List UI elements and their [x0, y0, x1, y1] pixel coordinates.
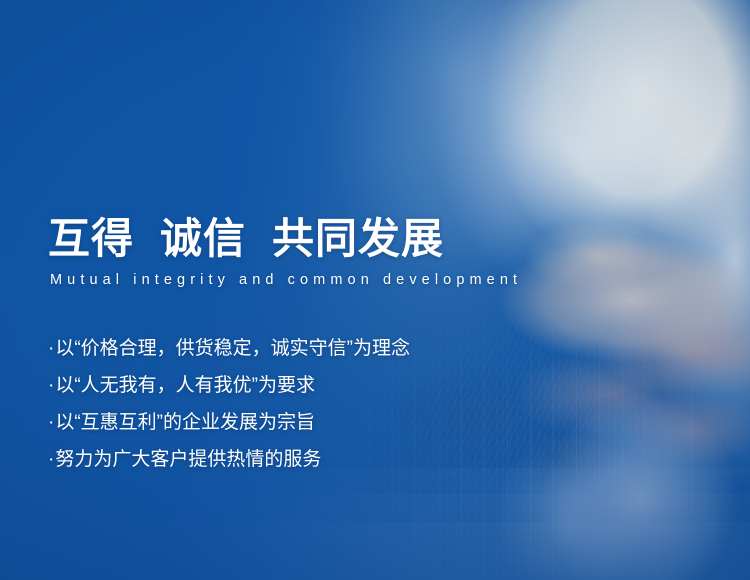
company-philosophy-banner: 互得诚信共同发展 Mutual integrity and common dev… [0, 0, 750, 580]
headline-part-1: 互得 [48, 215, 134, 262]
bullet-marker-icon: · [48, 412, 54, 433]
banner-subheadline: Mutual integrity and common development [50, 272, 522, 288]
bullet-marker-icon: · [48, 375, 54, 396]
banner-content: 互得诚信共同发展 Mutual integrity and common dev… [48, 0, 608, 580]
list-item-text: 努力为广大客户提供热情的服务 [55, 449, 321, 470]
list-item: ·以“价格合理，供货稳定，诚实守信”为理念 [48, 330, 410, 367]
list-item-text: 以“互惠互利”的企业发展为宗旨 [55, 412, 315, 433]
headline-part-2: 诚信 [160, 215, 246, 262]
philosophy-list: ·以“价格合理，供货稳定，诚实守信”为理念 ·以“人无我有，人有我优”为要求 ·… [48, 330, 410, 478]
bullet-marker-icon: · [48, 449, 54, 470]
list-item-text: 以“人无我有，人有我优”为要求 [55, 375, 315, 396]
bullet-marker-icon: · [48, 338, 54, 359]
list-item: ·努力为广大客户提供热情的服务 [48, 441, 410, 478]
banner-headline: 互得诚信共同发展 [48, 218, 444, 260]
headline-part-3: 共同发展 [272, 215, 444, 262]
list-item-text: 以“价格合理，供货稳定，诚实守信”为理念 [55, 338, 410, 359]
list-item: ·以“互惠互利”的企业发展为宗旨 [48, 404, 410, 441]
list-item: ·以“人无我有，人有我优”为要求 [48, 367, 410, 404]
